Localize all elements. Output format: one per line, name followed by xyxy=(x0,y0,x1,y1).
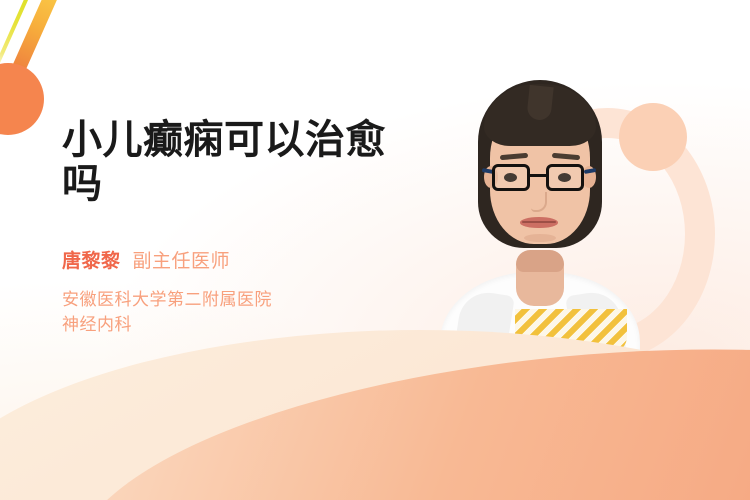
video-cover-slide: 小儿癫痫可以治愈吗 唐黎黎副主任医师 安徽医科大学第二附属医院 神经内科 xyxy=(0,0,750,500)
glasses-lens-left xyxy=(492,164,530,191)
text-block: 小儿癫痫可以治愈吗 唐黎黎副主任医师 安徽医科大学第二附属医院 神经内科 xyxy=(62,118,412,337)
department-name: 神经内科 xyxy=(62,312,412,337)
chin-shadow xyxy=(524,234,556,242)
doctor-name: 唐黎黎 xyxy=(62,251,121,272)
glasses-lens-right xyxy=(546,164,584,191)
mouth-line xyxy=(522,221,556,223)
glasses-bridge xyxy=(530,174,546,177)
neck-shadow xyxy=(516,250,564,272)
doctor-rank: 副主任医师 xyxy=(133,251,231,272)
hospital-name: 安徽医科大学第二附属医院 xyxy=(62,287,412,312)
doctor-byline: 唐黎黎副主任医师 xyxy=(62,246,412,273)
doctor-affiliation: 安徽医科大学第二附属医院 神经内科 xyxy=(62,287,412,337)
page-title: 小儿癫痫可以治愈吗 xyxy=(62,118,412,206)
